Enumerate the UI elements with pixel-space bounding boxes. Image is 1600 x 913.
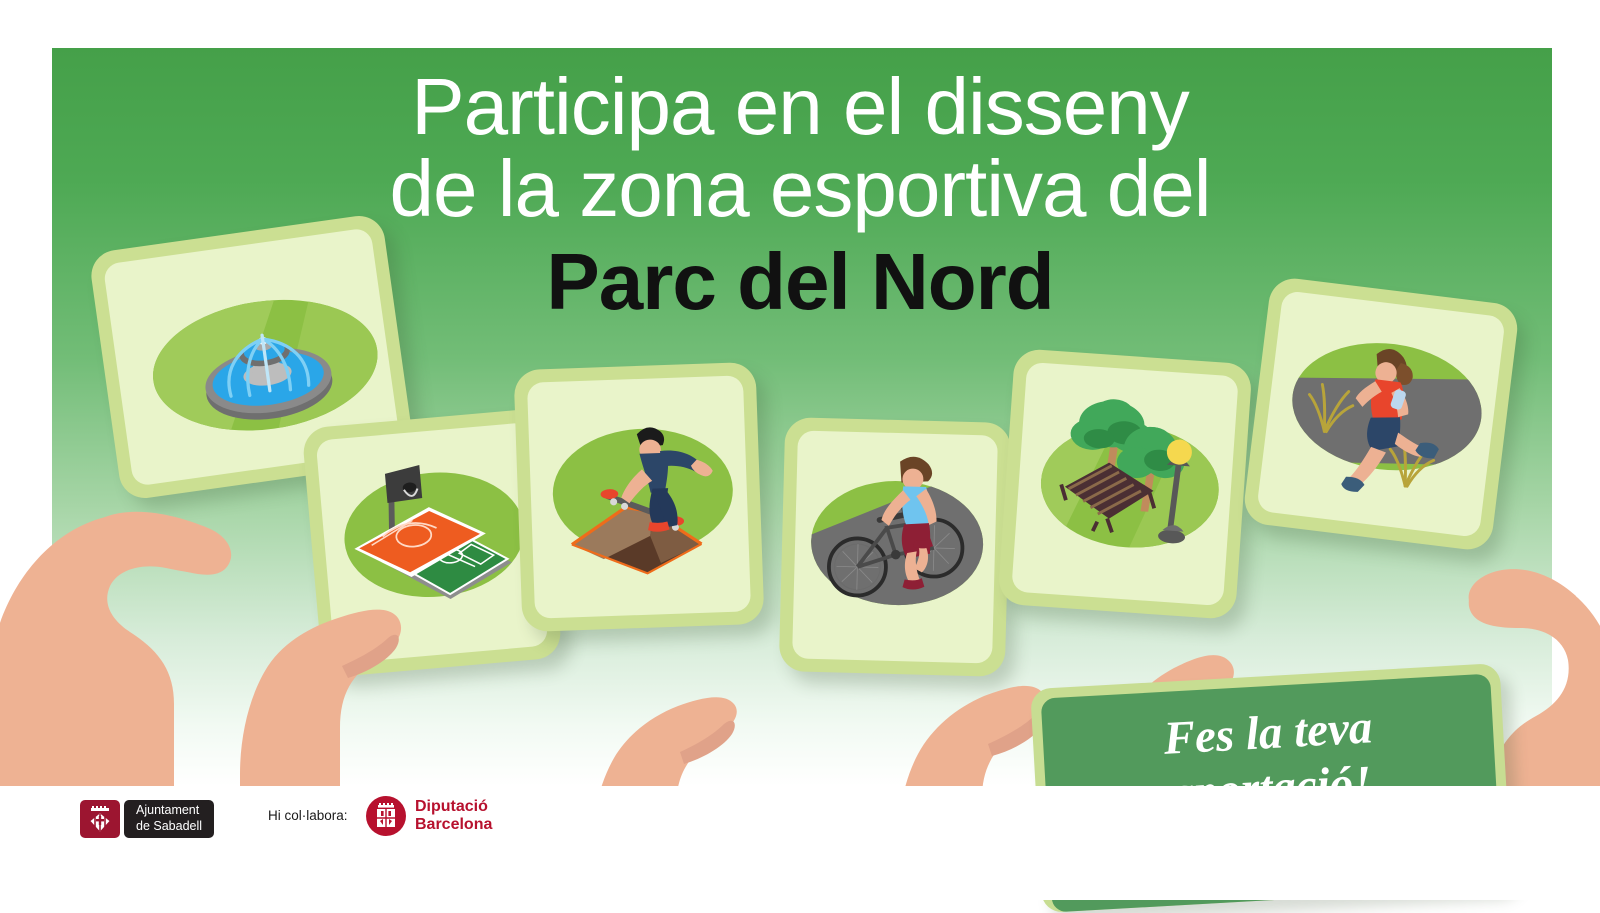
footer-logos: Ajuntament de Sabadell Hi col·labora: (0, 786, 1600, 900)
ajuntament-wordmark: Ajuntament de Sabadell (124, 800, 214, 838)
ajuntament-de-sabadell-logo[interactable]: Ajuntament de Sabadell (80, 800, 214, 838)
ajuntament-line-1: Ajuntament (136, 803, 202, 819)
diputacio-line-1: Diputació (415, 798, 492, 816)
headline-line-2: de la zona esportiva del (0, 148, 1600, 230)
ajuntament-line-2: de Sabadell (136, 819, 202, 835)
skater-icon (527, 375, 751, 618)
hand-second (192, 498, 522, 828)
poster-canvas: Participa en el disseny de la zona espor… (0, 0, 1600, 900)
collaborate-label: Hi col·labora: (268, 808, 348, 823)
headline-line-1: Participa en el disseny (0, 66, 1600, 148)
sabadell-shield-icon (80, 800, 120, 838)
diputacio-wordmark: Diputació Barcelona (415, 798, 492, 834)
diputacio-line-2: Barcelona (415, 816, 492, 834)
card-skatepark-illustration (527, 375, 751, 618)
diputacio-barcelona-logo[interactable]: Diputació Barcelona (366, 796, 492, 836)
diputacio-crest-icon (366, 796, 406, 836)
card-skatepark[interactable] (514, 362, 765, 632)
